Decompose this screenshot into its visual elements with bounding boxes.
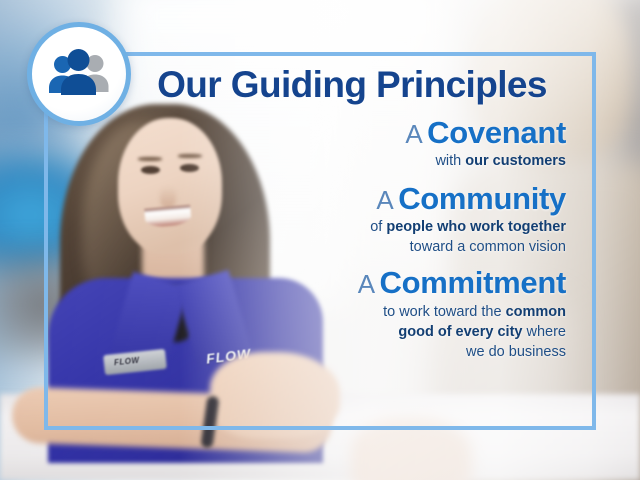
subtext-run-bold: our customers xyxy=(465,153,566,169)
subtext-line: we do business xyxy=(62,342,566,362)
people-group-icon xyxy=(27,22,131,126)
principle-community-article: A xyxy=(376,185,393,215)
principle-covenant-title: A Covenant xyxy=(62,117,566,149)
subtext-line: toward a common vision xyxy=(62,237,566,257)
principle-commitment-article: A xyxy=(358,269,375,299)
subtext-run-bold: good of every city xyxy=(398,324,522,340)
subtext-run: to work toward the xyxy=(383,304,506,320)
principle-community-subtext: of people who work together toward a com… xyxy=(62,217,566,257)
guiding-principles-graphic: FLOW FLOW Our Guiding Principles A Coven… xyxy=(0,0,640,480)
subtext-line: good of every city where xyxy=(62,322,566,342)
principle-commitment-title: A Commitment xyxy=(62,267,566,299)
principle-covenant-keyword: Covenant xyxy=(427,115,566,150)
principle-community: A Community of people who work together … xyxy=(62,183,578,257)
principle-commitment: A Commitment to work toward the common g… xyxy=(62,267,578,361)
principle-covenant: A Covenant with our customers xyxy=(62,117,578,171)
subtext-run: with xyxy=(435,153,465,169)
subtext-line: of people who work together xyxy=(62,217,566,237)
page-title: Our Guiding Principles xyxy=(62,60,578,105)
subtext-run-bold: people who work together xyxy=(386,219,566,235)
subtext-run-bold: common xyxy=(506,304,566,320)
subtext-run: of xyxy=(370,219,386,235)
subtext-line: to work toward the common xyxy=(62,302,566,322)
principle-commitment-subtext: to work toward the common good of every … xyxy=(62,302,566,362)
subtext-line: with our customers xyxy=(62,151,566,171)
principle-covenant-article: A xyxy=(405,119,422,149)
principle-covenant-subtext: with our customers xyxy=(62,151,566,171)
principle-community-title: A Community xyxy=(62,183,566,215)
principle-community-keyword: Community xyxy=(398,181,566,216)
subtext-run: where xyxy=(522,324,566,340)
principle-commitment-keyword: Commitment xyxy=(380,265,566,300)
